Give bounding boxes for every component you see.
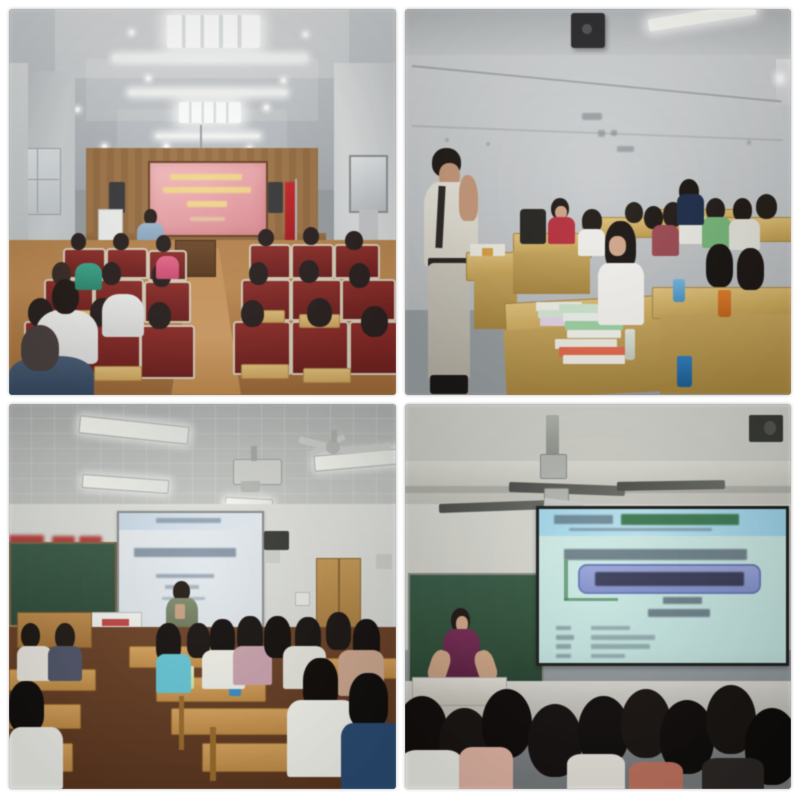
slide-subtitle-1 bbox=[156, 574, 213, 579]
photo-top-left[interactable] bbox=[9, 9, 396, 395]
student-head-9 bbox=[756, 194, 777, 219]
student-top-gray bbox=[48, 646, 83, 681]
auditorium-scene bbox=[9, 9, 396, 395]
student-head-r2 bbox=[303, 227, 319, 246]
bench-leg-2 bbox=[210, 727, 216, 781]
projector-lens-housing bbox=[241, 481, 260, 493]
foreground-head-left bbox=[9, 681, 44, 731]
instructor-hand bbox=[459, 175, 478, 221]
audience-top-dark bbox=[702, 758, 764, 789]
foreground-pink-shirt bbox=[156, 256, 179, 279]
slide-title bbox=[134, 548, 237, 557]
student-face-longhair bbox=[609, 236, 626, 255]
student-top-maroon bbox=[652, 225, 679, 256]
window-mullion-v bbox=[37, 148, 39, 214]
student-head-r6 bbox=[349, 263, 370, 288]
slide-welcome-line bbox=[564, 549, 747, 560]
student-top-red bbox=[548, 217, 575, 244]
screen-text-line-3 bbox=[187, 201, 226, 207]
projection-screen bbox=[536, 506, 789, 666]
backpack bbox=[520, 209, 545, 244]
student-head-r9 bbox=[361, 306, 388, 337]
slide-accent-vline bbox=[564, 560, 568, 600]
student-head-11 bbox=[737, 248, 764, 290]
foreground-head-2 bbox=[21, 325, 60, 371]
speaker-cone bbox=[764, 421, 776, 435]
student-head-r7 bbox=[241, 300, 264, 327]
banner-cn-green bbox=[621, 514, 740, 525]
bench-row-3 bbox=[171, 708, 297, 735]
downlight-1 bbox=[129, 30, 134, 35]
slide-title-text bbox=[595, 572, 745, 586]
whiteboard-classroom-scene bbox=[405, 9, 792, 395]
wall-speaker bbox=[264, 531, 289, 550]
projector-mount bbox=[251, 446, 257, 461]
water-bottle-clear bbox=[625, 329, 635, 360]
slide-detail-value-1 bbox=[591, 626, 631, 631]
big-screen-lecture-scene bbox=[405, 404, 792, 790]
banner-cn-left bbox=[554, 515, 613, 524]
slide-detail-label-1 bbox=[556, 626, 571, 631]
curtain-left bbox=[9, 63, 28, 256]
slide-presenter-name bbox=[663, 597, 703, 605]
student-top-white-4 bbox=[729, 219, 760, 250]
photo-bottom-right[interactable] bbox=[405, 404, 792, 790]
student-head-l9 bbox=[148, 302, 171, 329]
ceiling-light-strip-3 bbox=[156, 134, 260, 138]
water-bottle-orange bbox=[718, 290, 731, 317]
presenter-hand-mic bbox=[175, 604, 185, 619]
photo-top-right[interactable] bbox=[405, 9, 792, 395]
slide-detail-value-3 bbox=[591, 644, 650, 649]
screen-text-line-1 bbox=[170, 174, 242, 180]
bench-leg-1 bbox=[179, 696, 184, 750]
instructor-pants bbox=[428, 263, 471, 379]
student-head-1 bbox=[21, 623, 40, 648]
water-bottle-blue bbox=[673, 279, 685, 302]
whiteboard-writing-2 bbox=[598, 130, 606, 136]
foreground-head-right-2 bbox=[349, 673, 388, 727]
slide-header-text bbox=[156, 518, 220, 523]
speaker-right bbox=[268, 182, 283, 213]
whiteboard-writing-4 bbox=[617, 146, 634, 152]
student-head-r8 bbox=[307, 298, 332, 327]
audience-top-orange bbox=[629, 762, 683, 789]
right-wall-edge bbox=[776, 59, 791, 105]
desk-r3 bbox=[241, 364, 289, 379]
ceiling-light-strip-2 bbox=[129, 90, 287, 95]
student-head-r1 bbox=[258, 229, 273, 247]
projection-screen bbox=[148, 161, 268, 236]
whiteboard-mark-3 bbox=[747, 140, 752, 145]
slide-accent-hline bbox=[564, 598, 618, 600]
banner-en bbox=[569, 528, 712, 532]
downlight-2 bbox=[303, 32, 308, 37]
student-head-r5 bbox=[299, 260, 319, 284]
student-top-white-1 bbox=[578, 229, 605, 256]
wall-picture bbox=[349, 155, 388, 213]
student-top-white-2 bbox=[598, 263, 644, 325]
student-top-white-1 bbox=[17, 646, 52, 681]
photo-collage bbox=[0, 0, 800, 798]
foreground-top-blue bbox=[341, 723, 395, 789]
student-head-l5 bbox=[102, 262, 121, 285]
foreground-green-shirt bbox=[75, 263, 102, 290]
slide-banner bbox=[539, 509, 786, 537]
screen-text-line-2 bbox=[163, 187, 251, 193]
instructor-shoes bbox=[430, 375, 469, 394]
fan1-hub bbox=[326, 440, 340, 454]
foreground-white-shirt-2 bbox=[102, 294, 145, 336]
student-top-navy bbox=[677, 194, 704, 225]
podium-red-mark bbox=[102, 619, 129, 625]
student-head-r3 bbox=[345, 231, 362, 250]
speaker-cone bbox=[582, 24, 591, 34]
ceiling-light-fixture-2 bbox=[179, 102, 241, 123]
desk-l4 bbox=[94, 366, 142, 381]
projector-classroom-scene bbox=[9, 404, 396, 790]
book-stack-7 bbox=[567, 330, 621, 338]
fan1-rod bbox=[331, 430, 336, 442]
student-head-l2 bbox=[113, 233, 128, 251]
student-head-r4 bbox=[249, 262, 268, 285]
slide-detail-value-2 bbox=[591, 635, 655, 640]
student-head-10 bbox=[706, 244, 733, 286]
desk-row2-front bbox=[513, 252, 590, 294]
collage-grid bbox=[9, 9, 791, 789]
audience-top-white-2 bbox=[567, 754, 625, 789]
pendant-rod bbox=[200, 125, 202, 148]
whiteboard-writing-1 bbox=[582, 113, 601, 120]
ceiling bbox=[405, 404, 792, 516]
slide-date bbox=[648, 609, 710, 617]
student-head-l3 bbox=[156, 235, 171, 252]
whiteboard-mark-1 bbox=[445, 138, 449, 142]
slide-title-box bbox=[578, 564, 760, 594]
ceiling-light-fixture-1 bbox=[167, 15, 260, 48]
speaker-bracket bbox=[264, 550, 279, 563]
wall-switch bbox=[295, 592, 311, 606]
water-bottle-blue-2 bbox=[677, 356, 692, 387]
student-head-9 bbox=[326, 612, 352, 651]
foreground-top-white-left bbox=[9, 727, 63, 789]
desk-item-orange bbox=[482, 248, 494, 256]
photo-bottom-left[interactable] bbox=[9, 404, 396, 790]
slide-detail-label-2 bbox=[556, 635, 573, 640]
student-head-l1 bbox=[71, 233, 86, 251]
projector-pipe bbox=[546, 415, 559, 457]
slide-detail-label-3 bbox=[556, 644, 571, 649]
student-head-3 bbox=[625, 202, 643, 224]
seat-l3c bbox=[140, 325, 194, 379]
wall-light bbox=[777, 75, 783, 83]
desk-r4 bbox=[303, 368, 351, 383]
fluorescent-tube-right bbox=[617, 480, 725, 491]
ceiling-projector bbox=[540, 454, 567, 479]
audience-top-peach bbox=[459, 747, 513, 789]
audience-top-white-1 bbox=[405, 750, 463, 789]
student-top-cyan bbox=[156, 654, 191, 693]
wall-box bbox=[376, 554, 391, 569]
book-stack-9 bbox=[563, 355, 625, 363]
whiteboard-mark-2 bbox=[486, 142, 490, 146]
screen-subtext bbox=[190, 217, 226, 221]
ceiling-light-strip-1 bbox=[113, 55, 306, 60]
